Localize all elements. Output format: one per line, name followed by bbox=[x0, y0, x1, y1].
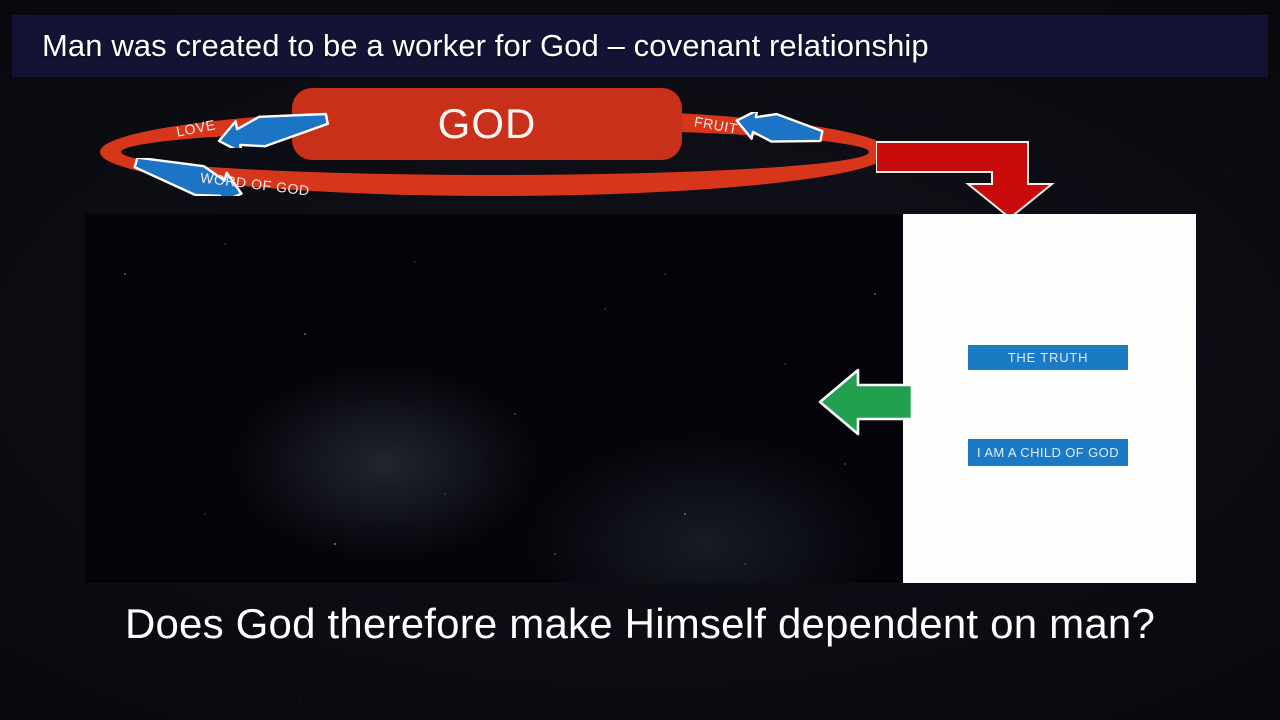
page-title: Man was created to be a worker for God –… bbox=[12, 28, 929, 64]
love-arrow-icon bbox=[216, 112, 334, 148]
slide-canvas: Man was created to be a worker for God –… bbox=[0, 0, 1280, 720]
photo-background bbox=[903, 214, 1196, 583]
solar-system-image bbox=[85, 214, 910, 583]
truth-banner-bottom: I AM A CHILD OF GOD bbox=[968, 439, 1128, 466]
god-label: GOD bbox=[438, 100, 537, 148]
person-image: THE TRUTH I AM A CHILD OF GOD bbox=[903, 214, 1196, 583]
title-bar: Man was created to be a worker for God –… bbox=[12, 15, 1268, 77]
space-sky bbox=[85, 214, 910, 583]
truth-banner-top: THE TRUTH bbox=[968, 345, 1128, 370]
truth-banner-bottom-label: I AM A CHILD OF GOD bbox=[977, 445, 1119, 460]
fruit-arrow-icon bbox=[734, 112, 826, 146]
green-arrow-icon bbox=[818, 368, 914, 436]
truth-banner-top-label: THE TRUTH bbox=[1008, 350, 1089, 365]
slide-caption: Does God therefore make Himself dependen… bbox=[0, 600, 1280, 648]
red-elbow-arrow-icon bbox=[876, 140, 1056, 220]
god-box[interactable]: GOD bbox=[292, 88, 682, 160]
